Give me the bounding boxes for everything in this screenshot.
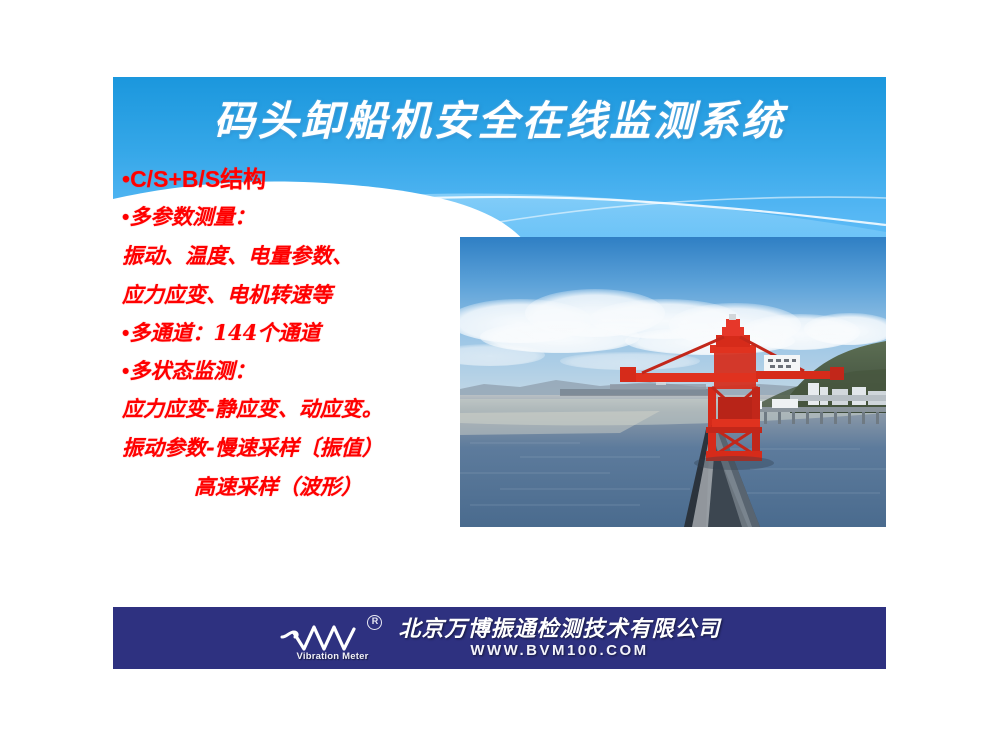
presentation-slide: 码头卸船机安全在线监测系统 •C/S+B/S结构 •多参数测量： 振动、温度、电… <box>0 0 1000 750</box>
footer-content: R Vibration Meter 北京万博振通检测技术有限公司 WWW.BVM… <box>113 607 886 669</box>
bullet-line-text: 振动参数-慢速采样〔振值） <box>122 435 383 460</box>
bullet-line-text: 振动、温度、电量参数、 <box>122 243 353 268</box>
bullet-line-2: •多参数测量： <box>122 196 482 237</box>
company-identity: 北京万博振通检测技术有限公司 WWW.BVM100.COM <box>398 616 720 660</box>
bullet-line-8: 振动参数-慢速采样〔振值） <box>122 428 482 468</box>
bullet-line-5: •多通道：144个通道 <box>122 314 482 352</box>
bullet-line-text: 多参数测量： <box>129 204 255 229</box>
photo-illustration <box>460 237 886 527</box>
bullet-line-text: 应力应变-静应变、动应变。 <box>122 396 383 421</box>
vibration-meter-logo: R Vibration Meter <box>278 615 384 661</box>
bullet-text-block: •C/S+B/S结构 •多参数测量： 振动、温度、电量参数、 应力应变、电机转速… <box>122 163 482 506</box>
bullet-line-text: C/S+B/S结构 <box>130 166 266 192</box>
bullet-line-6: •多状态监测： <box>122 352 482 389</box>
bullet-line-9: 高速采样（波形） <box>122 468 482 506</box>
bullet-line-7: 应力应变-静应变、动应变。 <box>122 389 482 428</box>
bullet-line-text: 多通道：144个通道 <box>129 320 320 345</box>
bullet-line-4: 应力应变、电机转速等 <box>122 275 482 314</box>
bullet-line-text: 多状态监测： <box>129 358 255 383</box>
footer-bar: R Vibration Meter 北京万博振通检测技术有限公司 WWW.BVM… <box>113 607 886 669</box>
company-name-cn: 北京万博振通检测技术有限公司 <box>398 616 720 642</box>
bullet-line-3: 振动、温度、电量参数、 <box>122 237 482 275</box>
bullet-line-1: •C/S+B/S结构 <box>122 163 482 196</box>
logo-subtext: Vibration Meter <box>282 651 382 662</box>
bullet-line-text: 应力应变、电机转速等 <box>122 282 332 307</box>
bullet-marker: • <box>122 166 130 192</box>
page-title: 码头卸船机安全在线监测系统 <box>113 99 886 144</box>
company-website[interactable]: WWW.BVM100.COM <box>398 642 720 660</box>
bullet-line-text: 高速采样（波形） <box>194 474 362 499</box>
port-ship-unloader-photo <box>460 237 886 527</box>
